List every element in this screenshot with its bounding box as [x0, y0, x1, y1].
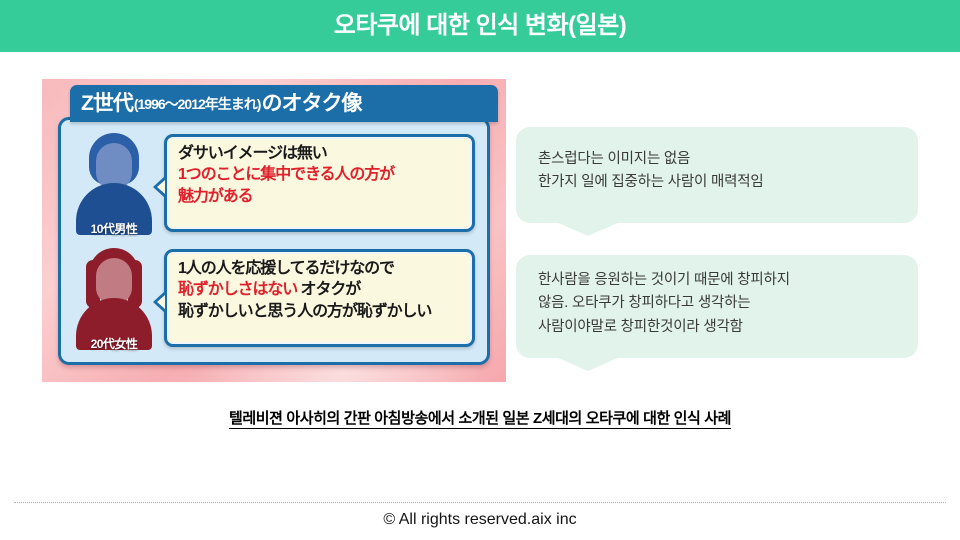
infographic-title-bar: Z世代 (1996〜2012年生まれ) のオタク像 [70, 85, 498, 122]
quote-tail-icon [153, 176, 165, 198]
quote-line: 1人の人を応援してるだけなので [178, 258, 464, 279]
caption-text: 텔레비젼 아사히의 간판 아침방송에서 소개된 일본 Z세대의 오타쿠에 대한 … [229, 410, 731, 429]
header-banner: 오타쿠에 대한 인식 변화(일본) [0, 0, 960, 52]
infographic-body-card: 10代男性 ダサいイメージは無い 1つのことに集中できる人の方が 魅力がある [58, 117, 490, 365]
person-row-female: 20代女性 1人の人を応援してるだけなので 恥ずかしさはない オタクが 恥ずかし… [61, 242, 487, 354]
slide-root: 오타쿠에 대한 인식 변화(일본) Z世代 (1996〜2012年生まれ) のオ… [0, 0, 960, 540]
infographic-image: Z世代 (1996〜2012年生まれ) のオタク像 10代男性 ダサいイメージは… [42, 79, 506, 382]
translation-text-1: 촌스럽다는 이미지는 없음 한가지 일에 집중하는 사람이 매력적임 [538, 148, 764, 195]
quote-box-male: ダサいイメージは無い 1つのことに集中できる人の方が 魅力がある [164, 134, 475, 232]
bubble-tail-icon [556, 222, 620, 236]
quote-line: 1つのことに集中できる人の方が [178, 164, 464, 185]
quote-line: 魅力がある [178, 186, 464, 207]
caption: 텔레비젼 아사히의 간판 아침방송에서 소개된 일본 Z세대의 오타쿠에 대한 … [0, 407, 960, 428]
quote-wrap-male: ダサいイメージは無い 1つのことに集中できる人の方が 魅力がある [164, 134, 475, 232]
quote-tail-icon [153, 291, 165, 313]
person-row-male: 10代男性 ダサいイメージは無い 1つのことに集中できる人の方が 魅力がある [61, 127, 487, 239]
infographic-title-suffix: のオタク像 [261, 93, 361, 114]
page-title: 오타쿠에 대한 인식 변화(일본) [334, 14, 626, 38]
infographic-title-years: (1996〜2012年生まれ) [134, 97, 261, 111]
quote-line-black: オタクが [297, 281, 360, 298]
footer-copyright: © All rights reserved.aix inc [0, 511, 960, 529]
bubble-tail-icon [556, 357, 620, 371]
translation-bubble-1: 촌스럽다는 이미지는 없음 한가지 일에 집중하는 사람이 매력적임 [516, 127, 918, 223]
quote-line-red: 恥ずかしさはない [178, 281, 297, 298]
avatar-tag-female: 20代女性 [91, 338, 138, 350]
quote-line: 恥ずかしいと思う人の方が恥ずかしい [178, 301, 464, 322]
quote-box-female: 1人の人を応援してるだけなので 恥ずかしさはない オタクが 恥ずかしいと思う人の… [164, 249, 475, 347]
quote-line: ダサいイメージは無い [178, 143, 464, 164]
quote-line-mixed: 恥ずかしさはない オタクが [178, 279, 464, 300]
male-avatar: 10代男性 [68, 131, 160, 235]
quote-wrap-female: 1人の人を応援してるだけなので 恥ずかしさはない オタクが 恥ずかしいと思う人の… [164, 249, 475, 347]
female-avatar: 20代女性 [68, 246, 160, 350]
avatar-tag-male: 10代男性 [91, 223, 138, 235]
translation-bubble-2: 한사람을 응원하는 것이기 때문에 창피하지 않음. 오타쿠가 창피하다고 생각… [516, 255, 918, 358]
footer-divider [14, 502, 946, 503]
infographic-title-main: Z世代 [81, 93, 133, 114]
translation-text-2: 한사람을 응원하는 것이기 때문에 창피하지 않음. 오타쿠가 창피하다고 생각… [538, 269, 790, 339]
